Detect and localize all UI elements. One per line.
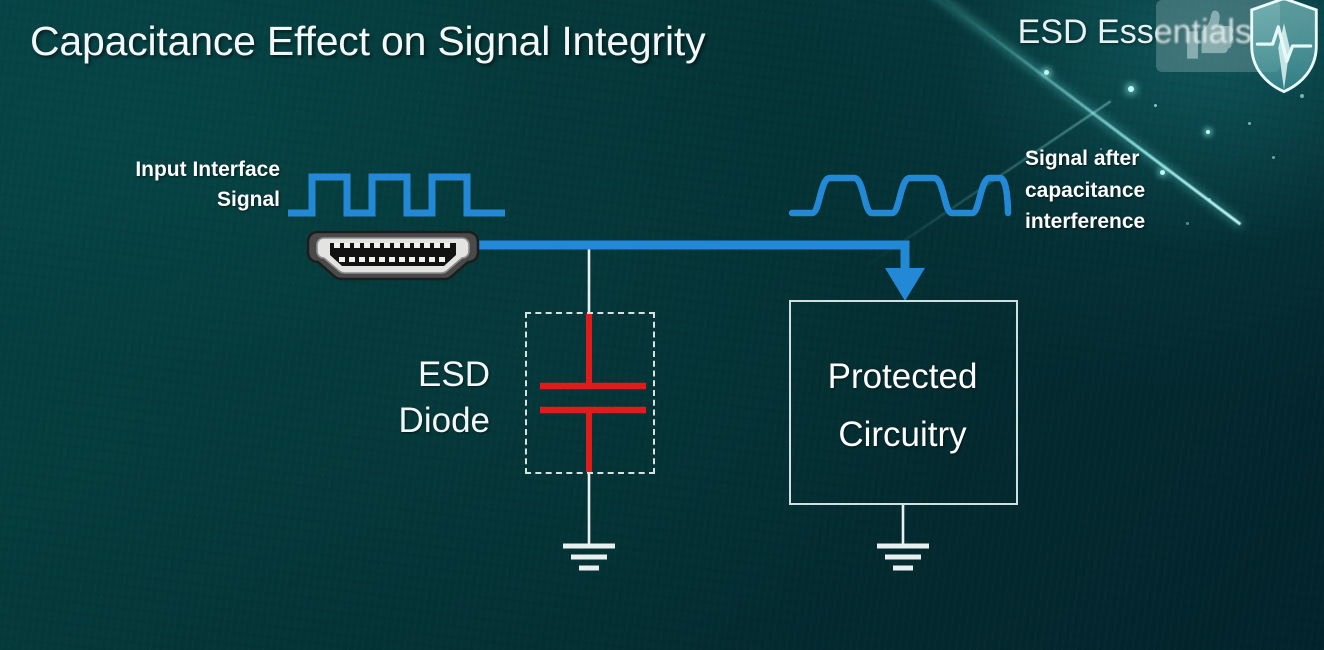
- output-waveform: [792, 178, 1008, 213]
- protected-circuitry-label-line2: Circuitry: [795, 406, 1010, 464]
- input-waveform: [288, 177, 505, 213]
- hdmi-connector-icon: [308, 232, 478, 279]
- esd-diode-boundary: [525, 312, 655, 474]
- ground-symbol-right: [877, 546, 929, 568]
- protected-circuitry-label-line1: Protected: [795, 348, 1010, 406]
- protected-circuitry-label: Protected Circuitry: [795, 348, 1010, 464]
- circuit-diagram: [0, 0, 1324, 650]
- arrow-head-icon: [885, 268, 925, 301]
- signal-flow-arrow: [478, 245, 905, 272]
- ground-symbol-left: [563, 546, 615, 568]
- slide-canvas: Capacitance Effect on Signal Integrity E…: [0, 0, 1324, 650]
